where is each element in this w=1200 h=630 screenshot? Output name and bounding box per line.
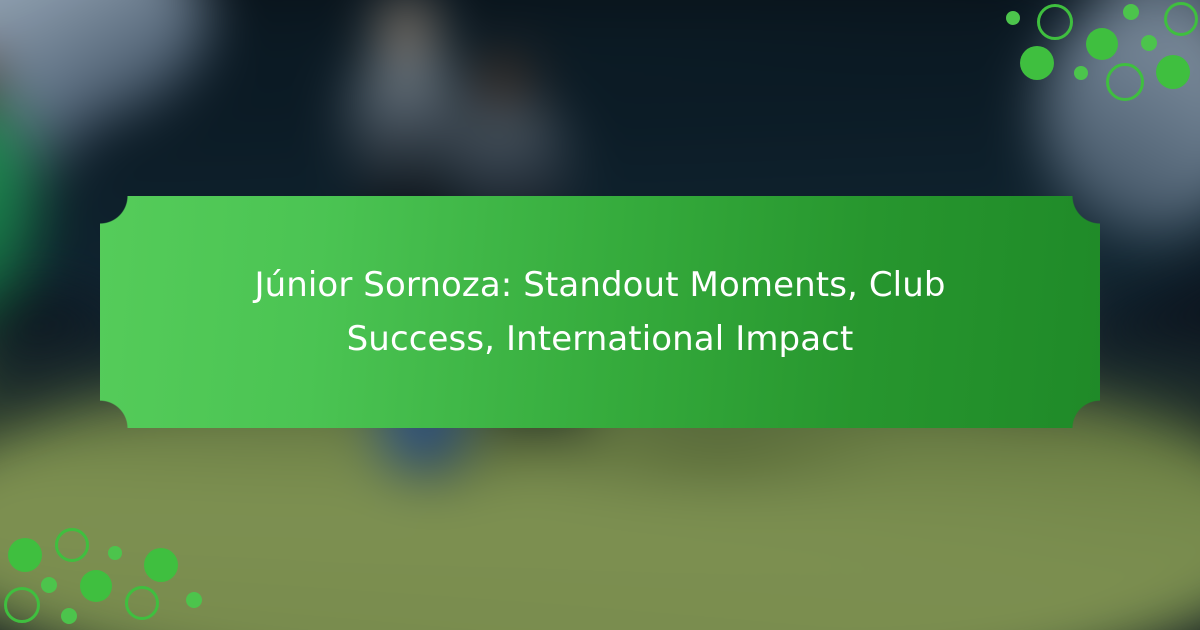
banner-canvas: Júnior Sornoza: Standout Moments, Club S… [0, 0, 1200, 630]
dot-filled-2 [1020, 46, 1054, 80]
dot-filled-3 [1074, 66, 1088, 80]
dot-ring-3 [4, 587, 40, 623]
dot-filled-0 [1006, 11, 1020, 25]
dot-ring-7 [125, 586, 159, 620]
dot-filled-2 [41, 577, 57, 593]
top-right-dots [980, 0, 1200, 110]
dot-filled-4 [80, 570, 112, 602]
dot-ring-1 [1037, 4, 1073, 40]
dot-filled-4 [1086, 28, 1118, 60]
dot-ring-8 [1164, 2, 1198, 36]
player-center-head [380, 0, 435, 61]
dot-filled-0 [8, 538, 42, 572]
dot-filled-9 [1156, 55, 1190, 89]
dot-filled-5 [1123, 4, 1139, 20]
player-center-body [350, 53, 469, 197]
dot-filled-9 [186, 592, 202, 608]
dot-ring-6 [1106, 63, 1144, 101]
bottom-left-dots [0, 520, 220, 630]
title-card: Júnior Sornoza: Standout Moments, Club S… [100, 196, 1100, 428]
dot-ring-1 [55, 528, 89, 562]
page-title: Júnior Sornoza: Standout Moments, Club S… [200, 258, 1000, 367]
dot-filled-5 [61, 608, 77, 624]
dot-filled-8 [144, 548, 178, 582]
player-second-head [479, 53, 530, 110]
dot-filled-6 [108, 546, 122, 560]
dot-filled-7 [1141, 35, 1157, 51]
